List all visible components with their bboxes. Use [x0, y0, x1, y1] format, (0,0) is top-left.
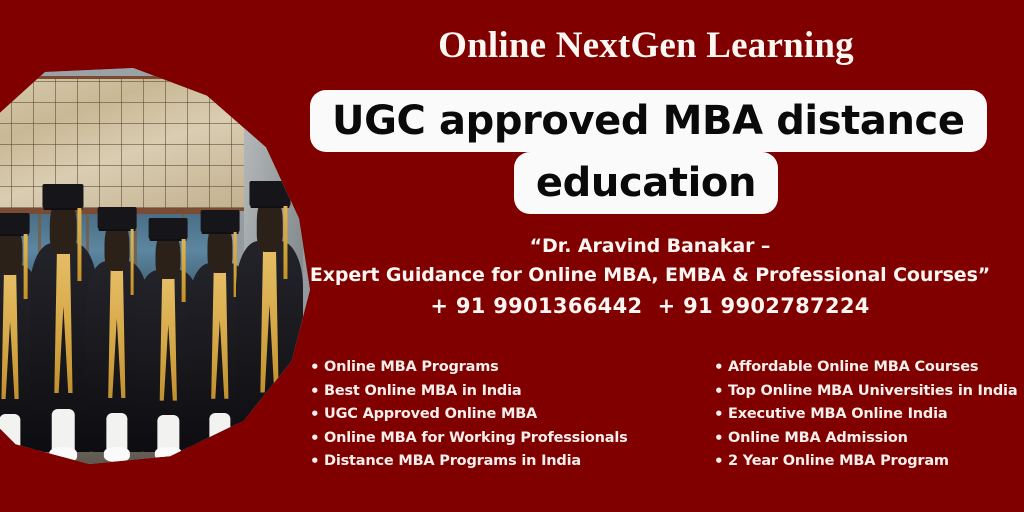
headline-row-1: UGC approved MBA distance	[310, 90, 982, 152]
list-item: UGC Approved Online MBA	[324, 403, 696, 427]
list-item: Distance MBA Programs in India	[324, 450, 696, 474]
photo-graduates-row	[0, 167, 310, 452]
quote-line-1: “Dr. Aravind Banakar –	[300, 232, 1000, 261]
quote-line-2: Expert Guidance for Online MBA, EMBA & P…	[300, 261, 1000, 290]
list-item: Online MBA Programs	[324, 356, 696, 380]
promo-banner: Online NextGen Learning UGC approved MBA…	[0, 0, 1024, 512]
graduate-figure	[236, 181, 302, 452]
keyword-lists: Online MBA Programs Best Online MBA in I…	[306, 356, 1012, 474]
list-item: Best Online MBA in India	[324, 380, 696, 404]
list-item: Executive MBA Online India	[728, 403, 1012, 427]
list-item: Affordable Online MBA Courses	[728, 356, 1012, 380]
keyword-list-left: Online MBA Programs Best Online MBA in I…	[306, 356, 696, 474]
list-item: Online MBA for Working Professionals	[324, 427, 696, 451]
keyword-list-right: Affordable Online MBA Courses Top Online…	[710, 356, 1012, 474]
list-item: Online MBA Admission	[728, 427, 1012, 451]
phone-numbers[interactable]: + 91 9901366442 + 91 9902787224	[300, 292, 1000, 321]
headline-row-2: education	[310, 152, 982, 214]
headline-line-1: UGC approved MBA distance	[310, 90, 987, 152]
headline: UGC approved MBA distance education	[310, 90, 982, 214]
main-title: Online NextGen Learning	[310, 24, 982, 67]
list-item: Top Online MBA Universities in India	[728, 380, 1012, 404]
list-item: 2 Year Online MBA Program	[728, 450, 1012, 474]
headline-line-2: education	[514, 152, 778, 214]
quote-block: “Dr. Aravind Banakar – Expert Guidance f…	[300, 232, 1000, 321]
graduates-photo	[0, 68, 310, 464]
